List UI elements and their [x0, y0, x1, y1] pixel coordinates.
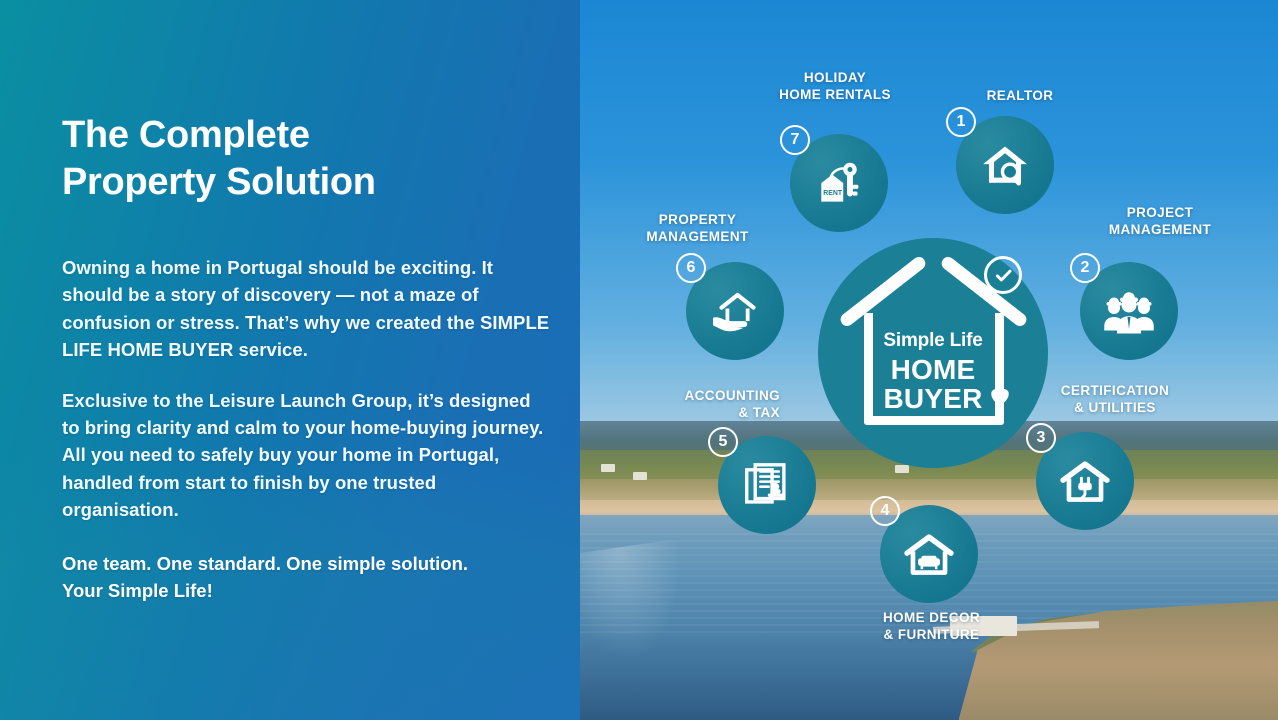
house-sofa-icon — [902, 527, 956, 581]
node-label-accounting-tax: ACCOUNTING & TAX — [600, 388, 780, 421]
node-property-management[interactable]: 6 — [686, 262, 784, 360]
closing-statement: One team. One standard. One simple solut… — [62, 551, 552, 605]
node-holiday-home-rentals[interactable]: 7 RENT — [790, 134, 888, 232]
slide-root: The Complete Property Solution Owning a … — [0, 0, 1278, 720]
rent-tag-text: RENT — [823, 190, 843, 197]
node-number-badge: 7 — [780, 125, 810, 155]
hub-logo: Simple Life HOME BUYER — [846, 273, 1021, 433]
node-label-property-management: PROPERTY MANAGEMENT — [605, 212, 790, 245]
node-number-badge: 3 — [1026, 423, 1056, 453]
body-copy: Owning a home in Portugal should be exci… — [62, 254, 552, 604]
node-label-project-management: PROJECT MANAGEMENT — [1075, 205, 1245, 238]
node-number-badge: 2 — [1070, 253, 1100, 283]
node-project-management[interactable]: 2 — [1080, 262, 1178, 360]
node-number-badge: 1 — [946, 107, 976, 137]
heart-icon — [987, 383, 1013, 409]
paragraph-1: Owning a home in Portugal should be exci… — [62, 254, 552, 363]
central-hub-home-buyer[interactable]: Simple Life HOME BUYER — [818, 238, 1048, 468]
check-circle-icon — [984, 256, 1022, 294]
node-number-badge: 4 — [870, 496, 900, 526]
hub-brand-top: Simple Life — [846, 331, 1021, 350]
node-label-holiday-home-rentals: HOLIDAY HOME RENTALS — [710, 70, 960, 103]
node-home-decor-furniture[interactable]: 4 — [880, 505, 978, 603]
documents-stamp-icon — [740, 458, 794, 512]
headline-line-2: Property Solution — [62, 159, 552, 206]
page-title: The Complete Property Solution — [62, 112, 552, 206]
house-magnifier-icon — [978, 138, 1032, 192]
node-accounting-tax[interactable]: 5 — [718, 436, 816, 534]
paragraph-2: Exclusive to the Leisure Launch Group, i… — [62, 387, 552, 523]
construction-workers-icon — [1102, 284, 1156, 338]
key-rent-tag-icon: RENT — [812, 156, 866, 210]
node-label-home-decor-furniture: HOME DECOR & FURNITURE — [844, 610, 1019, 643]
hand-house-icon — [708, 284, 762, 338]
node-number-badge: 6 — [676, 253, 706, 283]
headline-line-1: The Complete — [62, 114, 310, 156]
house-plug-icon — [1058, 454, 1112, 508]
left-panel-content: The Complete Property Solution Owning a … — [62, 0, 552, 605]
node-number-badge: 5 — [708, 427, 738, 457]
node-label-certification-utilities: CERTIFICATION & UTILITIES — [1020, 383, 1210, 416]
closing-line-1: One team. One standard. One simple solut… — [62, 553, 468, 574]
node-realtor[interactable]: 1 — [956, 116, 1054, 214]
service-wheel-diagram: Simple Life HOME BUYER 1 — [580, 0, 1278, 720]
hub-brand-mid: HOME — [846, 355, 1021, 384]
node-label-realtor: REALTOR — [960, 88, 1080, 105]
closing-line-2: Your Simple Life! — [62, 578, 552, 605]
node-certification-utilities[interactable]: 3 — [1036, 432, 1134, 530]
